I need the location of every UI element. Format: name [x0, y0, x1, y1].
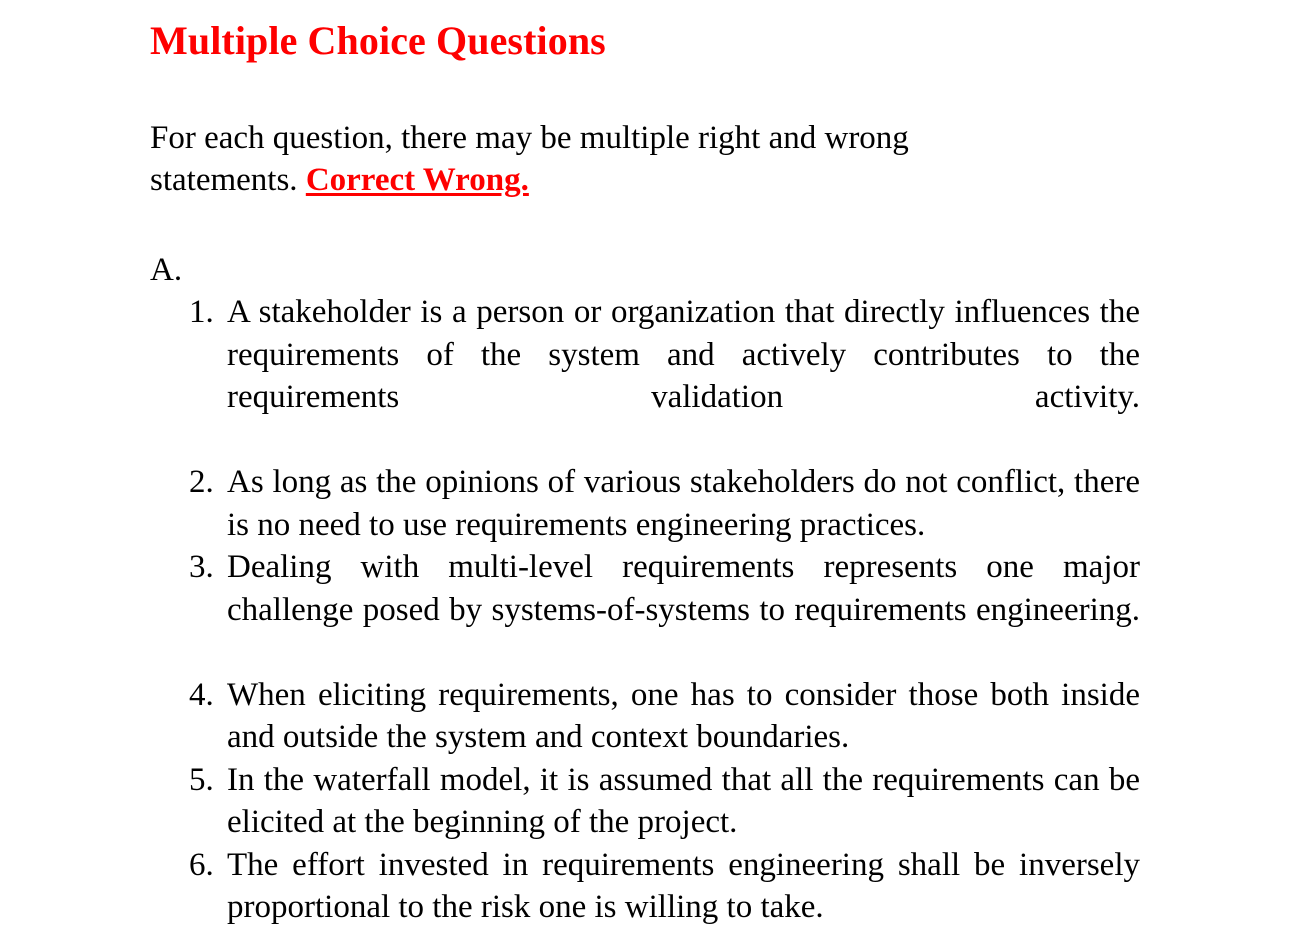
question-list: 1.A stakeholder is a person or organizat… — [189, 291, 1140, 929]
list-item: 1.A stakeholder is a person or organizat… — [189, 291, 1140, 461]
list-item: 3.Dealing with multi-level requirements … — [189, 546, 1140, 674]
list-item: 2.As long as the opinions of various sta… — [189, 461, 1140, 546]
list-item: 5.In the waterfall model, it is assumed … — [189, 759, 1140, 844]
list-item-number: 5. — [189, 759, 219, 802]
intro-emphasis-text: Correct Wrong. — [306, 162, 529, 198]
intro-lead-text: For each question, there may be multiple… — [150, 120, 909, 198]
list-item-text: As long as the opinions of various stake… — [227, 464, 1140, 543]
list-item-number: 3. — [189, 546, 219, 589]
list-item-number: 2. — [189, 461, 219, 504]
page-title: Multiple Choice Questions — [150, 17, 1150, 65]
list-item-text: Dealing with multi-level requirements re… — [227, 549, 1140, 670]
list-item-text: A stakeholder is a person or organizatio… — [227, 294, 1140, 458]
list-item-text: In the waterfall model, it is assumed th… — [227, 762, 1140, 841]
list-item: 4.When eliciting requirements, one has t… — [189, 674, 1140, 759]
list-item-text: When eliciting requirements, one has to … — [227, 677, 1140, 756]
intro-paragraph: For each question, there may be multiple… — [150, 117, 995, 201]
list-item-number: 1. — [189, 291, 219, 334]
list-item-number: 6. — [189, 844, 219, 887]
list-item: 6.The effort invested in requirements en… — [189, 844, 1140, 929]
list-item-text: The effort invested in requirements engi… — [227, 847, 1140, 926]
list-item-number: 4. — [189, 674, 219, 717]
slide-canvas: Multiple Choice Questions For each quest… — [0, 0, 1290, 944]
section-label-a: A. — [150, 249, 182, 291]
